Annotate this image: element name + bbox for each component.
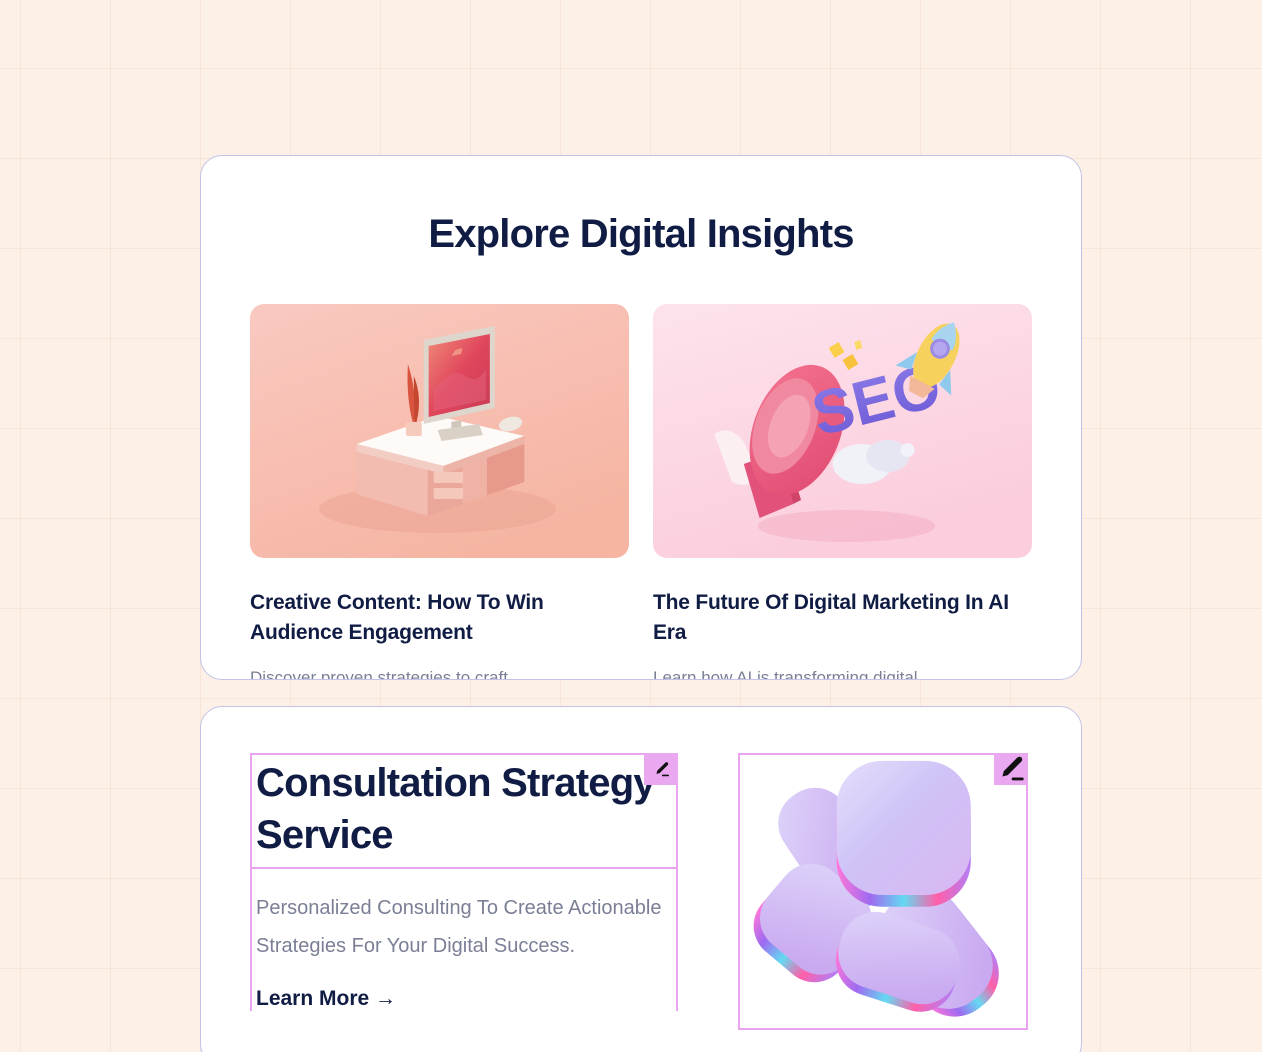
page-title: Explore Digital Insights (201, 212, 1081, 257)
service-title-text: Consultation Strategy Service (256, 761, 655, 857)
post-card[interactable]: SEO The Fu (653, 304, 1032, 680)
post-card[interactable]: Creative Content: How To Win Audience En… (250, 304, 629, 680)
post-thumbnail-seo-megaphone[interactable]: SEO (653, 304, 1032, 558)
service-description: Personalized Consulting To Create Action… (250, 867, 678, 965)
service-panel: Consultation Strategy Service Personaliz… (200, 706, 1082, 1052)
post-excerpt: Discover proven strategies to craft (250, 664, 629, 680)
post-excerpt: Learn how AI is transforming digital (653, 664, 1032, 680)
service-copy: Consultation Strategy Service Personaliz… (250, 753, 678, 1030)
service-title-editable[interactable]: Consultation Strategy Service (250, 753, 678, 869)
iridescent-3d-shape-icon (740, 755, 1026, 1028)
pencil-icon[interactable] (994, 753, 1028, 785)
service-row: Consultation Strategy Service Personaliz… (201, 707, 1081, 1030)
post-grid: Creative Content: How To Win Audience En… (201, 304, 1081, 680)
pencil-icon[interactable] (644, 753, 678, 785)
post-title: The Future Of Digital Marketing In AI Er… (653, 588, 1032, 648)
post-thumbnail-desk-workstation[interactable] (250, 304, 629, 558)
insights-panel: Explore Digital Insights (200, 155, 1082, 680)
service-media-editable[interactable] (738, 753, 1028, 1030)
learn-more-link[interactable]: Learn More → (250, 965, 678, 1011)
post-title: Creative Content: How To Win Audience En… (250, 588, 629, 648)
